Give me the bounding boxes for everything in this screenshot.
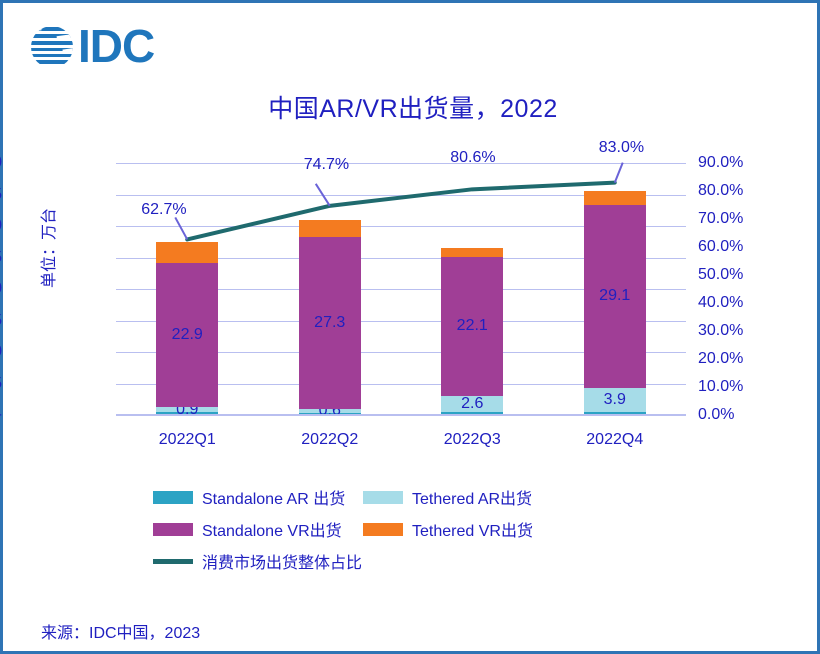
y-axis-tick-label: 30 xyxy=(0,218,2,234)
bar-value-label: 3.9 xyxy=(584,392,646,408)
y2-axis-tick-label: 80.0% xyxy=(698,183,778,199)
line-value-label: 83.0% xyxy=(599,139,644,157)
y-axis-tick-label: 15 xyxy=(0,313,2,329)
legend-swatch-icon xyxy=(363,491,403,504)
legend-line-icon xyxy=(153,559,193,564)
legend-item-standalone-ar[interactable]: Standalone AR 出货 xyxy=(153,485,363,509)
y2-axis-tick-label: 0.0% xyxy=(698,407,778,423)
x-axis: 2022Q12022Q22022Q32022Q4 xyxy=(116,431,686,449)
line-value-label: 62.7% xyxy=(141,201,186,219)
legend-swatch-icon xyxy=(153,491,193,504)
y-axis-title: 单位：万台 xyxy=(35,178,59,318)
bar-group[interactable]: 0.627.3 xyxy=(299,163,361,415)
legend-swatch-icon xyxy=(363,523,403,536)
y-axis-tick-label: 35 xyxy=(0,187,2,203)
y2-axis-tick-label: 70.0% xyxy=(698,211,778,227)
line-value-label: 80.6% xyxy=(450,149,495,167)
legend-item-tethered-vr[interactable]: Tethered VR出货 xyxy=(363,517,623,541)
y2-axis-tick-label: 60.0% xyxy=(698,239,778,255)
bar-segment[interactable] xyxy=(584,191,646,204)
y-axis-tick-label: - xyxy=(0,407,2,423)
line-value-label: 74.7% xyxy=(304,156,349,174)
bar-value-label: 2.6 xyxy=(441,396,503,412)
idc-logo: IDC xyxy=(28,21,208,73)
legend-label: 消费市场出货整体占比 xyxy=(202,549,362,573)
y2-axis-tick-label: 30.0% xyxy=(698,323,778,339)
legend-row: Standalone AR 出货 Tethered AR出货 xyxy=(153,481,653,513)
line-path xyxy=(187,183,615,240)
bar-value-label: 27.3 xyxy=(299,315,361,331)
legend-label: Standalone VR出货 xyxy=(202,517,342,541)
legend-label: Standalone AR 出货 xyxy=(202,485,345,509)
bar-segment[interactable] xyxy=(156,242,218,263)
y-axis-tick-label: 25 xyxy=(0,250,2,266)
bar-group[interactable]: 3.929.1 xyxy=(584,163,646,415)
y2-axis-tick-label: 40.0% xyxy=(698,295,778,311)
legend-row: Standalone VR出货 Tethered VR出货 xyxy=(153,513,653,545)
x-axis-line xyxy=(116,414,686,416)
y2-axis-tick-label: 20.0% xyxy=(698,351,778,367)
x-axis-tick-label: 2022Q3 xyxy=(401,431,544,449)
y-axis-tick-label: 10 xyxy=(0,344,2,360)
bar-value-label: 22.1 xyxy=(441,318,503,334)
legend-item-standalone-vr[interactable]: Standalone VR出货 xyxy=(153,517,363,541)
y-axis-tick-label: 5 xyxy=(0,376,2,392)
plot-area: -5101520253035400.0%10.0%20.0%30.0%40.0%… xyxy=(116,163,686,415)
x-axis-tick-label: 2022Q1 xyxy=(116,431,259,449)
y-axis-tick-label: 40 xyxy=(0,155,2,171)
slide-canvas: IDC 中国AR/VR出货量，2022 单位：万台 -5101520253035… xyxy=(0,0,820,654)
y-axis-tick-label: 20 xyxy=(0,281,2,297)
chart-legend: Standalone AR 出货 Tethered AR出货 Standalon… xyxy=(153,481,653,577)
legend-item-tethered-ar[interactable]: Tethered AR出货 xyxy=(363,485,623,509)
chart-title: 中国AR/VR出货量，2022 xyxy=(3,89,820,125)
globe-icon xyxy=(28,23,76,71)
logo-wordmark: IDC xyxy=(78,20,154,72)
bar-segment[interactable] xyxy=(441,248,503,257)
legend-label: Tethered VR出货 xyxy=(412,517,533,541)
y2-axis-tick-label: 10.0% xyxy=(698,379,778,395)
bar-value-label: 29.1 xyxy=(584,288,646,304)
bar-group[interactable]: 2.622.1 xyxy=(441,163,503,415)
legend-label: Tethered AR出货 xyxy=(412,485,532,509)
bar-segment[interactable] xyxy=(299,220,361,237)
legend-swatch-icon xyxy=(153,523,193,536)
bar-value-label: 22.9 xyxy=(156,327,218,343)
x-axis-tick-label: 2022Q4 xyxy=(544,431,687,449)
legend-row: 消费市场出货整体占比 xyxy=(153,545,653,577)
y2-axis-tick-label: 90.0% xyxy=(698,155,778,171)
legend-item-consumer-share[interactable]: 消费市场出货整体占比 xyxy=(153,549,413,573)
y2-axis-tick-label: 50.0% xyxy=(698,267,778,283)
x-axis-tick-label: 2022Q2 xyxy=(259,431,402,449)
source-note: 来源：IDC中国，2023 xyxy=(41,619,200,643)
